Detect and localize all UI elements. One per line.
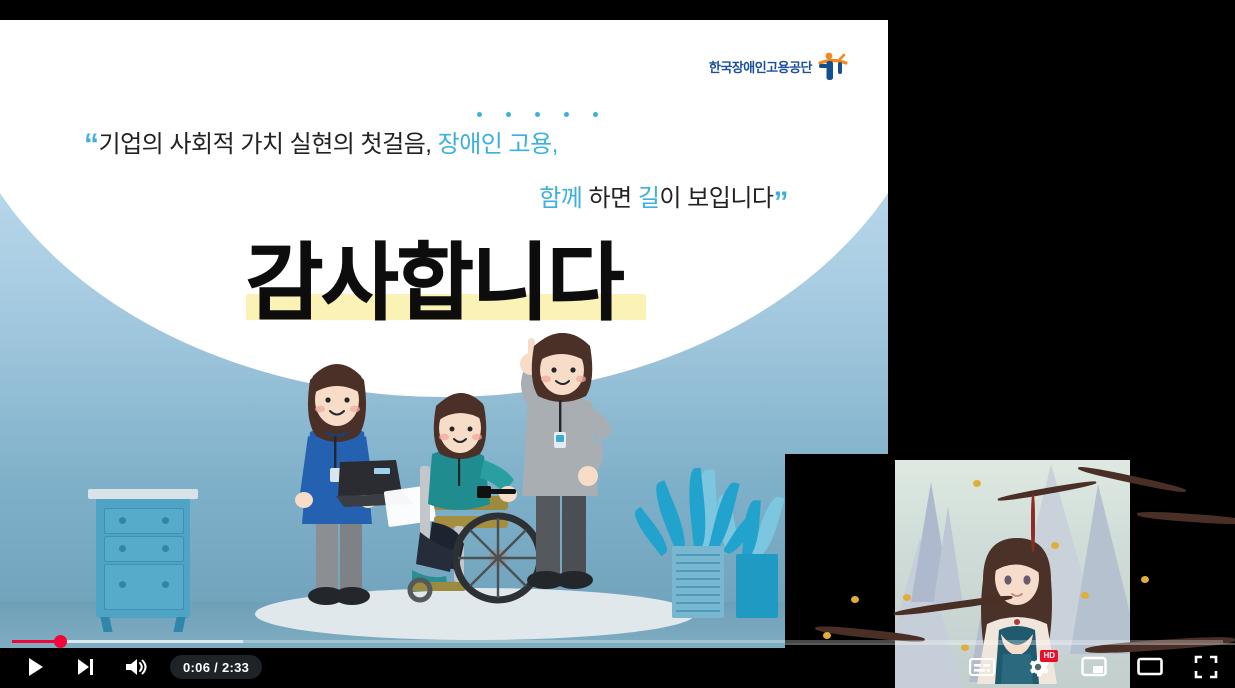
hd-quality-badge: HD <box>1040 650 1058 662</box>
tagline-line-1: “기업의 사회적 가치 실현의 첫걸음, 장애인 고용, <box>84 124 814 162</box>
player-controls-bar: 0:06 / 2:33 HD <box>0 636 1235 688</box>
quote-close-mark: ” <box>774 186 789 219</box>
video-slide: 한국장애인고용공단 “기업의 사회적 가치 <box>0 20 888 648</box>
play-button[interactable] <box>20 652 50 682</box>
time-display: 0:06 / 2:33 <box>170 655 262 679</box>
volume-button[interactable] <box>120 652 150 682</box>
tagline-line2-mid: 하면 <box>582 185 638 212</box>
tagline-line-2: 함께 하면 길이 보입니다” <box>84 178 814 220</box>
top-letterbox-bar <box>0 0 888 20</box>
theater-button[interactable] <box>1135 652 1165 682</box>
next-button[interactable] <box>70 652 100 682</box>
fullscreen-button[interactable] <box>1191 652 1221 682</box>
progress-bar[interactable] <box>0 640 1235 644</box>
controls-left-group: 0:06 / 2:33 <box>20 652 262 682</box>
subtitles-button[interactable] <box>967 652 997 682</box>
video-player-page: 한국장애인고용공단 “기업의 사회적 가치 <box>0 0 1235 688</box>
miniplayer-button[interactable] <box>1079 652 1109 682</box>
tagline-line2-suffix: 이 보입니다 <box>659 185 773 212</box>
progress-played <box>12 640 60 643</box>
decorative-dots <box>477 112 598 117</box>
settings-button[interactable]: HD <box>1023 652 1053 682</box>
organization-logo: 한국장애인고용공단 <box>709 50 848 82</box>
person-pointing <box>500 320 620 610</box>
tagline-line1-accent: 장애인 고용, <box>438 131 558 158</box>
controls-right-group: HD <box>967 652 1221 682</box>
video-stage[interactable]: 한국장애인고용공단 “기업의 사회적 가치 <box>0 20 888 648</box>
tagline-block: “기업의 사회적 가치 실현의 첫걸음, 장애인 고용, 함께 하면 길이 보입… <box>84 124 814 220</box>
cabinet-furniture <box>96 498 190 618</box>
quote-open-mark: “ <box>84 128 99 161</box>
logo-text: 한국장애인고용공단 <box>709 57 812 76</box>
tagline-line1-prefix: 기업의 사회적 가치 실현의 첫걸음, <box>99 131 438 158</box>
logo-mark-icon <box>818 50 848 82</box>
progress-scrubber[interactable] <box>54 635 67 648</box>
headline-text: 감사합니다 <box>246 244 622 324</box>
tagline-line2-accent2: 길 <box>638 185 660 212</box>
tagline-line2-accent1: 함께 <box>539 185 582 212</box>
headline-block: 감사합니다 <box>246 244 622 324</box>
pointer-prop <box>477 484 517 500</box>
